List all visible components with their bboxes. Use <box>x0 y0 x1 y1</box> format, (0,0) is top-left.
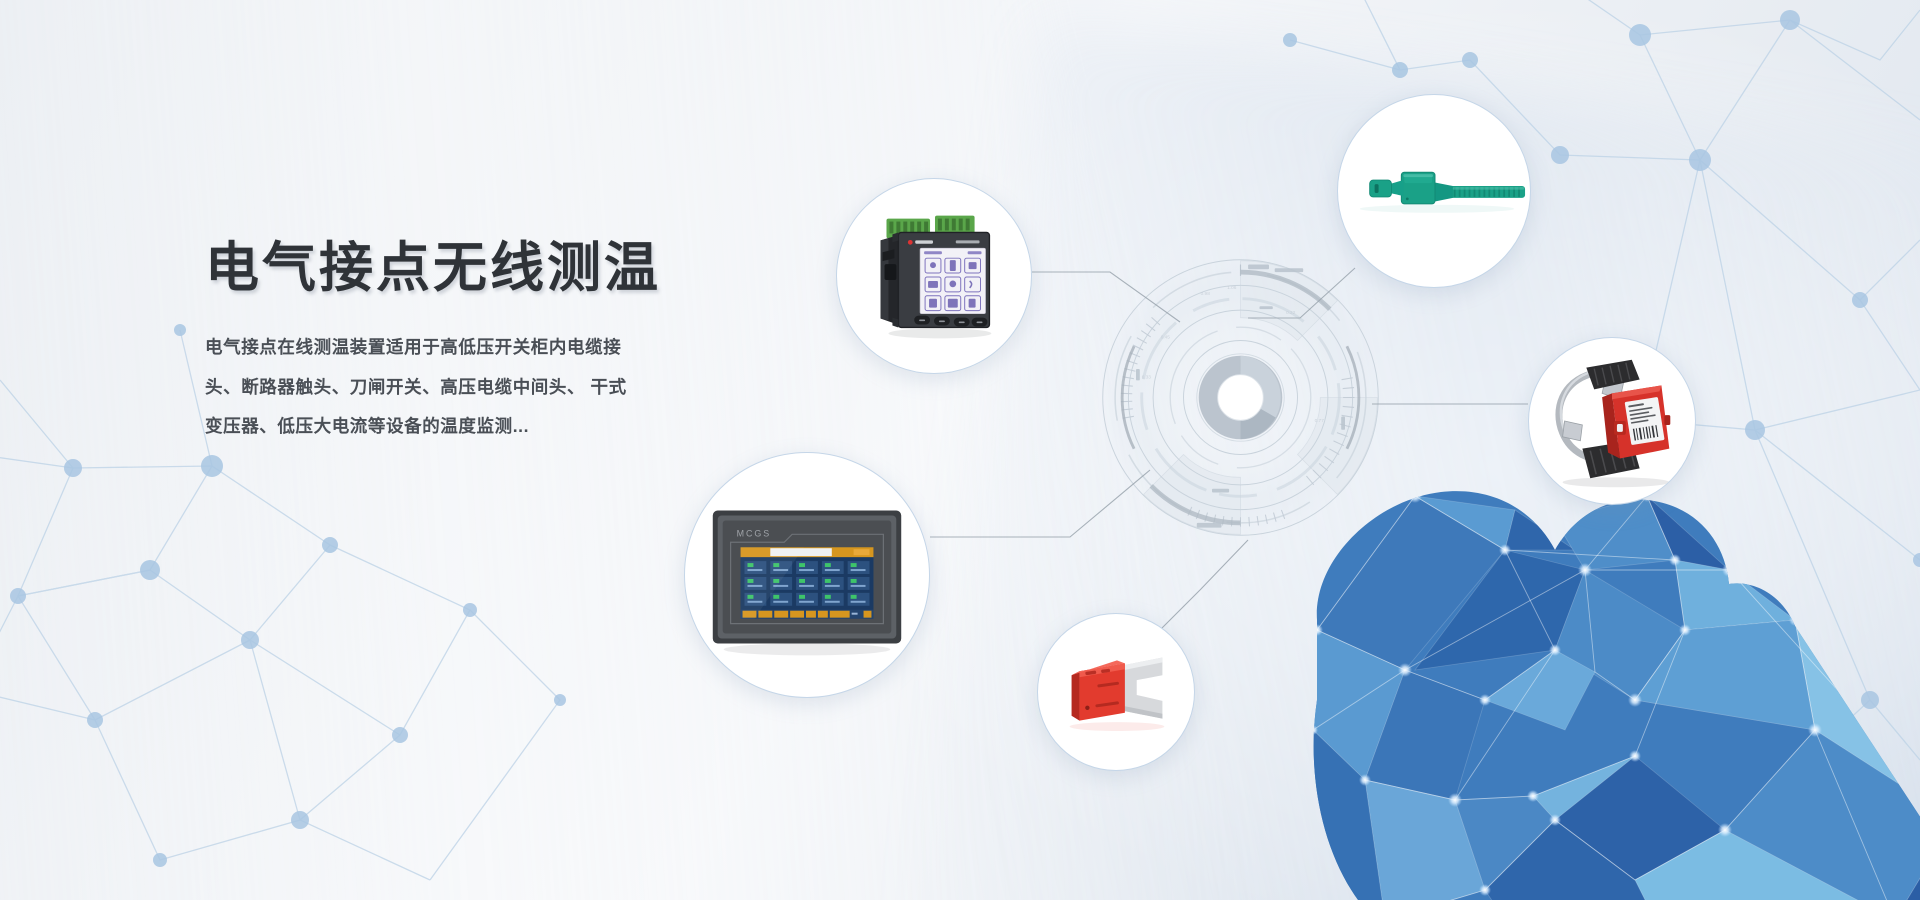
cable-tie-sensor-image <box>1338 94 1530 288</box>
clamp-sensor-image <box>1529 337 1695 505</box>
page-title: 电气接点无线测温 <box>205 238 725 298</box>
banner-copy-block: 电气接点无线测温 电气接点在线测温装置适用于高低压开关柜内电缆接 头、断路器触头… <box>205 238 725 447</box>
description-line-2: 头、断路器触头、刀闸开关、高压电缆中间头、 干式 <box>205 368 705 407</box>
description-line-1: 电气接点在线测温装置适用于高低压开关柜内电缆接 <box>205 328 705 367</box>
product-banner: 0.98 1.06 0.22 0.45 0.33 0.77 <box>0 0 1920 900</box>
product-bubble-power-meter[interactable]: 多功能电力仪表 <box>836 178 1032 374</box>
product-bubble-clamp-sensor[interactable]: 卡扣式无线测温传感器 <box>1528 337 1696 505</box>
description-line-3: 变压器、低压大电流等设备的温度监测... <box>205 407 705 446</box>
bolt-sensor-image <box>1038 613 1194 771</box>
power-meter-image <box>837 178 1031 374</box>
product-bubble-bolt-sensor[interactable]: 螺栓式无线测温传感器 <box>1037 613 1195 771</box>
product-bubble-hmi-panel[interactable]: 触摸屏监控主机 MCGS <box>684 452 930 698</box>
hmi-panel-image: MCGS <box>685 452 929 698</box>
product-bubble-cable-tie-sensor[interactable]: 扎带式无线测温传感器 <box>1337 94 1531 288</box>
banner-description: 电气接点在线测温装置适用于高低压开关柜内电缆接 头、断路器触头、刀闸开关、高压电… <box>205 328 705 446</box>
hmi-brand-text: MCGS <box>737 528 772 538</box>
